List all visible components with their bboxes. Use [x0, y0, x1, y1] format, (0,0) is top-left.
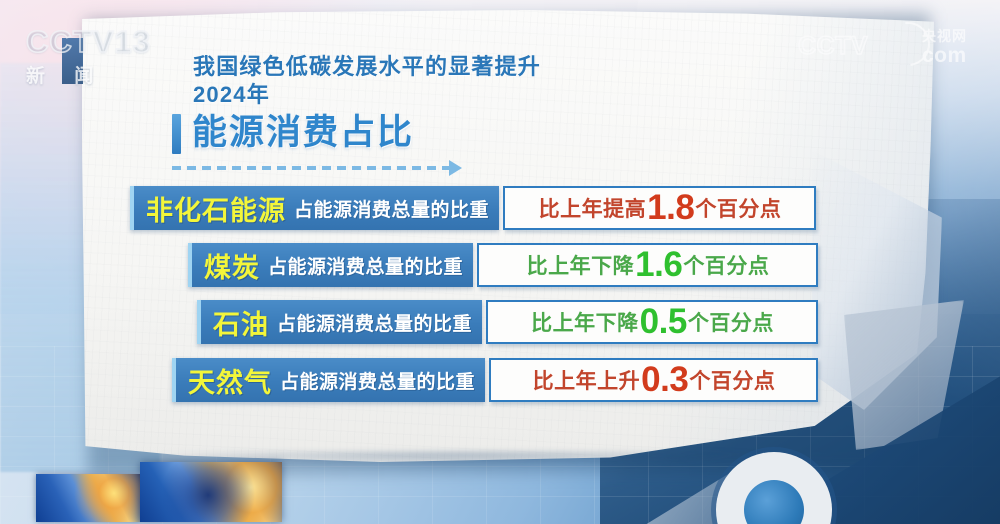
table-row[interactable]: 石油 占能源消费总量的比重 比上年下降 0.5 个百分点 [197, 300, 818, 344]
decorative-globe-thumbnail-small [36, 474, 140, 522]
row-change-unit: 个百分点 [683, 250, 769, 280]
row-change-value: 1.8 [647, 190, 694, 225]
cctv-com-watermark: CCTV 央视网 com [798, 26, 978, 72]
row-value-box: 比上年下降 1.6 个百分点 [477, 243, 818, 287]
row-change-prefix: 比上年提高 [539, 193, 647, 223]
table-row[interactable]: 煤炭 占能源消费总量的比重 比上年下降 1.6 个百分点 [188, 243, 818, 287]
decorative-globe-thumbnail [140, 462, 282, 522]
row-description: 占能源消费总量的比重 [294, 195, 489, 222]
row-key: 石油 [213, 303, 269, 342]
heading-block: 我国绿色低碳发展水平的显著提升 2024年 能源消费占比 [193, 54, 541, 154]
heading-accent-bar [172, 114, 181, 154]
heading-main-wrap: 能源消费占比 [193, 114, 541, 154]
row-change-value: 1.6 [635, 247, 682, 282]
cctv13-number: 13 [114, 24, 150, 59]
cctv-com-domain: com [922, 44, 967, 68]
row-label-nonfossil: 非化石能源 占能源消费总量的比重 [130, 186, 499, 230]
row-label-oil: 石油 占能源消费总量的比重 [197, 300, 482, 344]
row-change-unit: 个百分点 [689, 365, 775, 395]
row-label-coal: 煤炭 占能源消费总量的比重 [188, 243, 473, 287]
row-change-unit: 个百分点 [695, 193, 781, 223]
row-key: 非化石能源 [146, 189, 286, 228]
heading-dashed-rule [172, 166, 449, 170]
cctv13-wordmark: CCTV13 [26, 26, 154, 57]
row-change-value: 0.3 [641, 362, 688, 397]
page-title: 能源消费占比 [192, 115, 414, 152]
cctv-com-wordmark: CCTV [798, 32, 868, 61]
row-change-prefix: 比上年下降 [527, 250, 635, 280]
cctv-com-chinese-name: 央视网 [922, 26, 967, 46]
row-change-unit: 个百分点 [688, 307, 774, 337]
row-key: 天然气 [188, 361, 272, 400]
row-value-box: 比上年下降 0.5 个百分点 [486, 300, 818, 344]
cctv13-name: CCTV [26, 24, 114, 59]
row-change-prefix: 比上年下降 [531, 307, 639, 337]
row-description: 占能源消费总量的比重 [280, 367, 475, 394]
row-description: 占能源消费总量的比重 [268, 252, 463, 279]
heading-year: 2024年 [193, 82, 541, 107]
row-description: 占能源消费总量的比重 [277, 309, 472, 336]
heading-arrow-icon [449, 160, 462, 176]
cctv13-channel-logo: CCTV13 新 闻 [26, 26, 154, 84]
row-key: 煤炭 [204, 246, 260, 285]
row-change-value: 0.5 [640, 304, 687, 339]
table-row[interactable]: 非化石能源 占能源消费总量的比重 比上年提高 1.8 个百分点 [130, 186, 816, 230]
table-row[interactable]: 天然气 占能源消费总量的比重 比上年上升 0.3 个百分点 [172, 358, 818, 402]
row-value-box: 比上年提高 1.8 个百分点 [503, 186, 816, 230]
heading-subtitle: 我国绿色低碳发展水平的显著提升 [193, 54, 541, 79]
row-label-natural-gas: 天然气 占能源消费总量的比重 [172, 358, 485, 402]
cctv13-subtitle: 新 闻 [26, 61, 154, 88]
row-change-prefix: 比上年上升 [533, 365, 641, 395]
infographic-screenshot: CCTV13 新 闻 CCTV 央视网 com 我国绿色低碳发展水平的显著提升 … [0, 0, 1000, 524]
row-value-box: 比上年上升 0.3 个百分点 [489, 358, 818, 402]
